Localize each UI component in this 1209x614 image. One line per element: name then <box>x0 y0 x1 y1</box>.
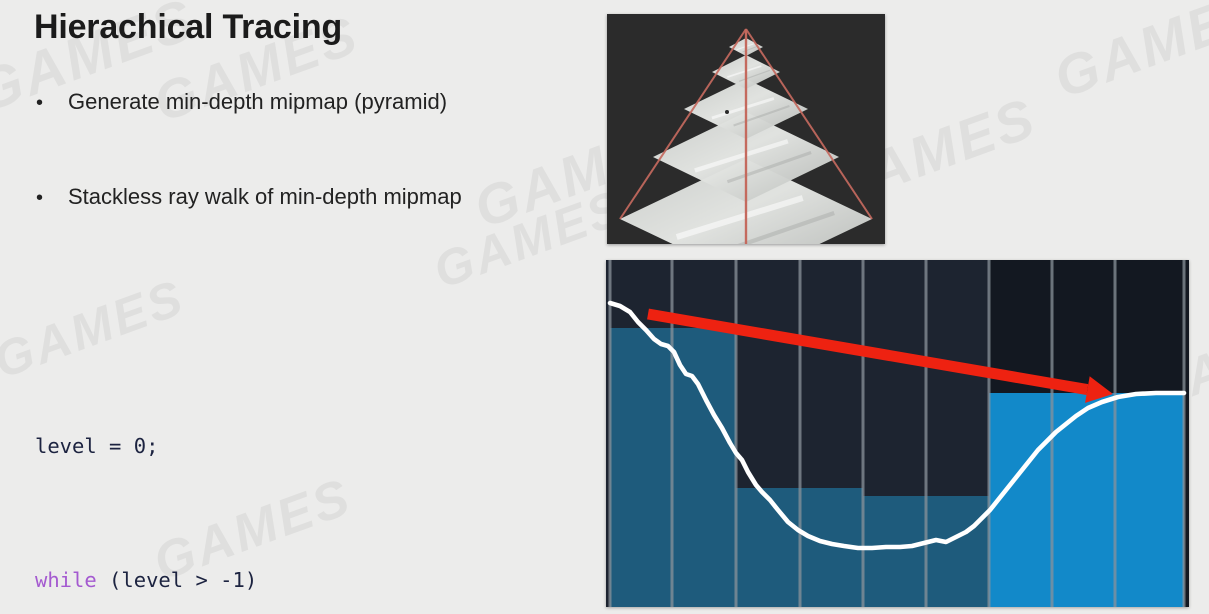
code-token-number: -1 <box>220 568 245 592</box>
watermark-games: GAMES <box>1046 0 1209 111</box>
mipmap-pyramid-image <box>607 14 885 244</box>
code-token-paren: ) <box>245 568 257 592</box>
bullet-item-stackless-walk: • Stackless ray walk of min-depth mipmap <box>36 184 462 210</box>
code-block: level = 0; while (level > -1) { stepCurr… <box>35 296 418 614</box>
code-line-2: while (level > -1) <box>35 564 418 598</box>
slide-title: Hierachical Tracing <box>34 8 342 47</box>
mipmap-pyramid-svg <box>607 14 885 244</box>
bullet-text: Stackless ray walk of min-depth mipmap <box>68 184 462 210</box>
min-depth-mipmap-ray-walk-svg <box>606 260 1189 607</box>
slide-root: GAMES GAMES GAMES GAMES GAMES GAMES GAME… <box>0 0 1209 614</box>
min-depth-mipmap-ray-walk-image <box>606 260 1189 607</box>
bullet-marker-icon: • <box>36 93 68 113</box>
code-token-operator: > <box>183 568 220 592</box>
bullet-text: Generate min-depth mipmap (pyramid) <box>68 89 447 115</box>
code-token-number: 0 <box>134 434 146 458</box>
code-token-paren: ( <box>97 568 122 592</box>
code-line-1: level = 0; <box>35 430 418 464</box>
code-token-identifier: level <box>121 568 183 592</box>
code-token-semicolon: ; <box>146 434 158 458</box>
code-token-identifier: level <box>35 434 97 458</box>
bullet-marker-icon: • <box>36 188 68 208</box>
code-token-operator: = <box>97 434 134 458</box>
bullet-item-generate-mipmap: • Generate min-depth mipmap (pyramid) <box>36 89 447 115</box>
code-token-keyword-while: while <box>35 568 97 592</box>
